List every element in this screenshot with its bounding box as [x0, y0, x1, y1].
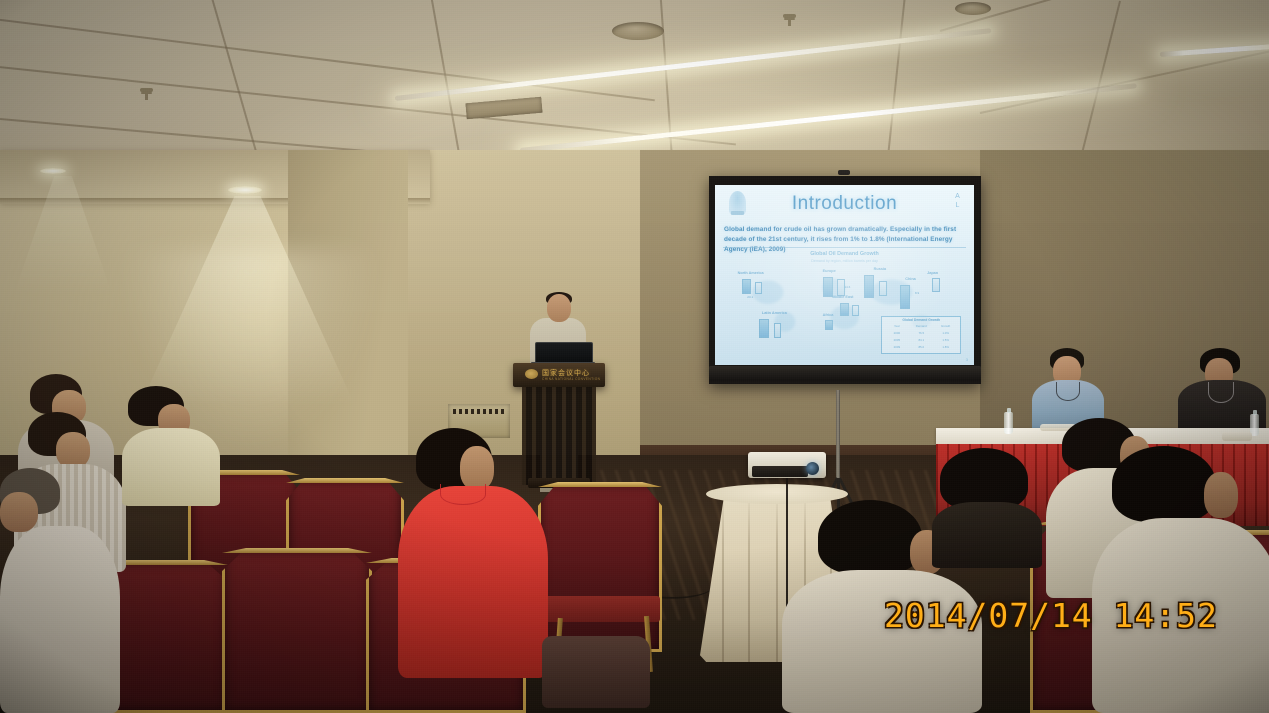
sprinkler-head-icon	[783, 14, 796, 18]
map-region-label: China	[905, 277, 916, 281]
slide-title: Introduction	[715, 193, 974, 215]
map-region-label: Europe	[823, 269, 836, 273]
map-region-bar	[900, 285, 910, 309]
projector-front-panel	[752, 466, 808, 477]
map-region-label: Russia	[874, 267, 886, 271]
cloth-fold	[748, 492, 750, 662]
podium-venue-name-en: CHINA NATIONAL CONVENTION CENTER	[542, 377, 600, 381]
screen-bottom-bar	[709, 366, 981, 381]
audience-member	[0, 468, 120, 713]
map-region-bar	[879, 281, 887, 296]
ceiling-air-diffuser	[612, 22, 664, 40]
slide-divider	[723, 247, 966, 248]
audience-head	[1204, 472, 1238, 518]
slide-page-number: 3	[966, 357, 968, 362]
map-region-value: 8.9	[915, 291, 919, 295]
map-region-label: Africa	[823, 313, 834, 317]
panel-lanyard	[1056, 382, 1080, 401]
map-region-bar	[932, 278, 940, 292]
audience-shirt	[782, 570, 982, 713]
projector-lens-icon	[806, 462, 819, 475]
audience-hair	[818, 500, 922, 574]
venue-logo-icon	[525, 369, 538, 379]
screen-top-nub	[838, 170, 850, 175]
map-table-cell: 76.5	[909, 331, 933, 336]
sprinkler-head-icon	[140, 88, 153, 92]
map-region-bar	[755, 282, 762, 294]
map-table-cell: 1.8%	[933, 345, 957, 350]
map-table-cell: 1.5%	[933, 338, 957, 343]
wall-panel-dots	[453, 409, 505, 414]
cloth-fold	[722, 492, 724, 662]
recessed-downlight	[228, 186, 262, 194]
conference-room-photo: AL Introduction Global demand for crude …	[0, 0, 1269, 713]
map-region-label: North America	[738, 271, 764, 275]
audience-head	[0, 492, 38, 532]
banquet-chair	[222, 548, 372, 713]
map-table-header-row: Year Demand Growth	[885, 324, 958, 329]
ceiling-air-diffuser	[955, 2, 991, 15]
recessed-downlight	[40, 168, 66, 174]
map-region-bar	[774, 323, 781, 338]
map-data-table: Global Demand Growth Year Demand Growth …	[881, 316, 961, 354]
audience-shirt	[0, 526, 120, 713]
map-table-cell: 2009	[885, 345, 909, 350]
map-table-row: 2000 76.5 1.0%	[885, 331, 958, 336]
map-table-header-cell: Growth	[933, 324, 957, 329]
slide-map-figure: Global Oil Demand Growth Demand by regio…	[723, 251, 966, 355]
map-table-header-cell: Year	[885, 324, 909, 329]
cloth-fold	[776, 492, 778, 662]
map-region-bar	[825, 320, 833, 330]
audience-shirt	[932, 502, 1042, 568]
chair-gold-trim	[222, 548, 372, 553]
map-region-label: Japan	[927, 271, 938, 275]
map-region-label: Middle East	[832, 295, 853, 299]
audience-shirt	[398, 486, 548, 678]
audience-member-red-shirt	[398, 428, 548, 678]
chair-gold-trim	[286, 478, 404, 483]
projection-screen: AL Introduction Global demand for crude …	[709, 176, 981, 384]
map-subcaption: Demand by region, million barrels per da…	[723, 259, 966, 263]
presenter-head	[547, 294, 571, 322]
map-table-cell: 85.0	[909, 345, 933, 350]
map-table-cell: 2005	[885, 338, 909, 343]
map-region-value: 23.1	[747, 295, 753, 299]
chair-gold-trim	[538, 482, 662, 487]
water-bottle	[1004, 412, 1013, 434]
map-table-row: 2005 84.1 1.5%	[885, 338, 958, 343]
rolled-paper	[1222, 432, 1252, 441]
audience-hair	[1112, 446, 1216, 522]
panel-lanyard	[1208, 382, 1234, 403]
map-table-cell: 84.1	[909, 338, 933, 343]
map-table-row: 2009 85.0 1.8%	[885, 345, 958, 350]
map-table-header-cell: Demand	[909, 324, 933, 329]
map-region-bar	[852, 305, 859, 316]
audience-head	[56, 432, 90, 468]
map-region-bar	[864, 275, 874, 298]
audience-member	[932, 448, 1042, 568]
map-region-bar	[742, 279, 751, 294]
map-region-bar	[840, 303, 849, 316]
screen-surface: AL Introduction Global demand for crude …	[715, 185, 974, 365]
presentation-slide: AL Introduction Global demand for crude …	[715, 185, 974, 365]
audience-lanyard	[440, 484, 486, 505]
map-table-title: Global Demand Growth	[882, 318, 960, 322]
map-region-bar	[823, 277, 833, 297]
screen-tripod-pole	[836, 390, 840, 482]
map-table-cell: 1.0%	[933, 331, 957, 336]
map-region-value: 14.6	[845, 285, 851, 289]
camera-timestamp: 2014/07/14 14:52	[884, 596, 1218, 635]
floor-bag	[542, 636, 650, 708]
map-region-label: Latin America	[762, 311, 787, 315]
audience-hair	[940, 448, 1028, 510]
map-region-bar	[759, 319, 769, 338]
audience-member	[122, 386, 220, 506]
chair-backrest	[222, 548, 372, 713]
map-caption: Global Oil Demand Growth	[723, 251, 966, 257]
audience-member	[1092, 446, 1269, 713]
audience-shirt	[122, 428, 220, 506]
map-table-cell: 2000	[885, 331, 909, 336]
